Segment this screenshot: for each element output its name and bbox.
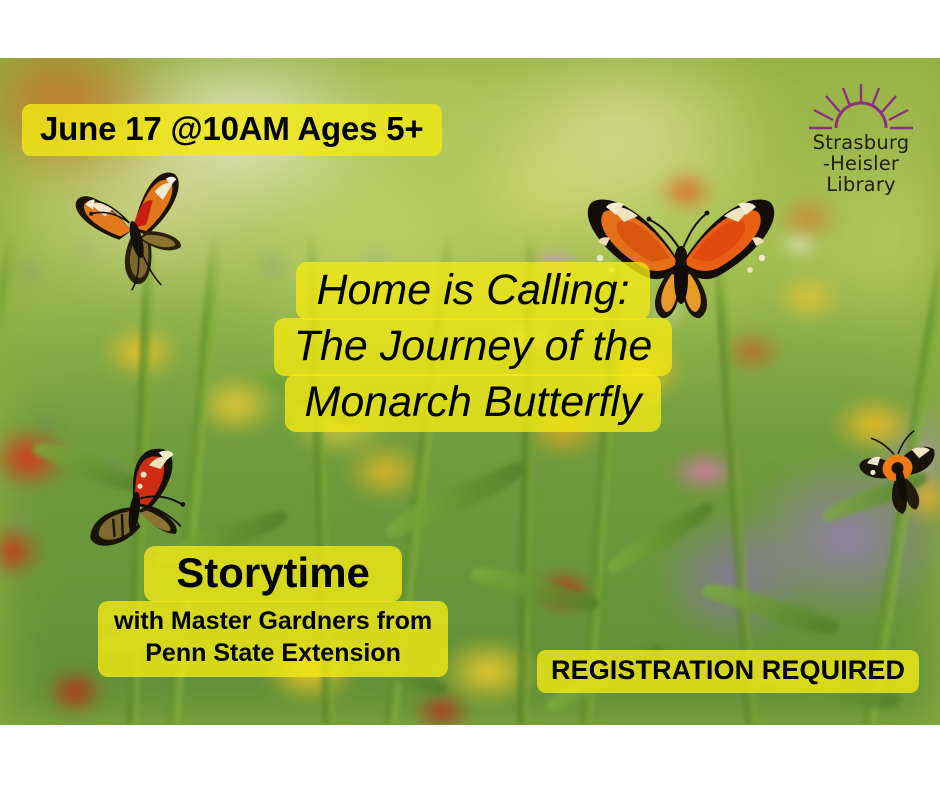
sunrise-icon	[795, 82, 927, 132]
event-flyer: Strasburg -Heisler Library June 17 @10AM…	[0, 0, 940, 788]
title-line-3: Monarch Butterfly	[285, 374, 662, 432]
registration-required-badge: REGISTRATION REQUIRED	[537, 650, 919, 693]
program-subtitle-line-1: with Master Gardners from	[114, 606, 432, 638]
date-time-age-badge: June 17 @10AM Ages 5+	[22, 104, 442, 156]
library-logo: Strasburg -Heisler Library	[795, 82, 927, 210]
logo-line-3: Library	[795, 174, 927, 195]
monarch-butterfly-right	[852, 410, 940, 520]
program-subtitle-line-2: Penn State Extension	[114, 638, 432, 670]
monarch-butterfly-upper-left	[58, 158, 208, 293]
logo-line-2: -Heisler	[795, 153, 927, 174]
logo-line-1: Strasburg	[795, 132, 927, 153]
program-subtitle: with Master Gardners from Penn State Ext…	[98, 601, 448, 677]
event-title: Home is Calling: The Journey of the Mona…	[253, 262, 693, 430]
program-block: Storytime with Master Gardners from Penn…	[98, 546, 448, 677]
program-heading: Storytime	[144, 546, 402, 602]
title-line-2: The Journey of the	[274, 318, 673, 376]
title-line-1: Home is Calling:	[296, 262, 649, 320]
